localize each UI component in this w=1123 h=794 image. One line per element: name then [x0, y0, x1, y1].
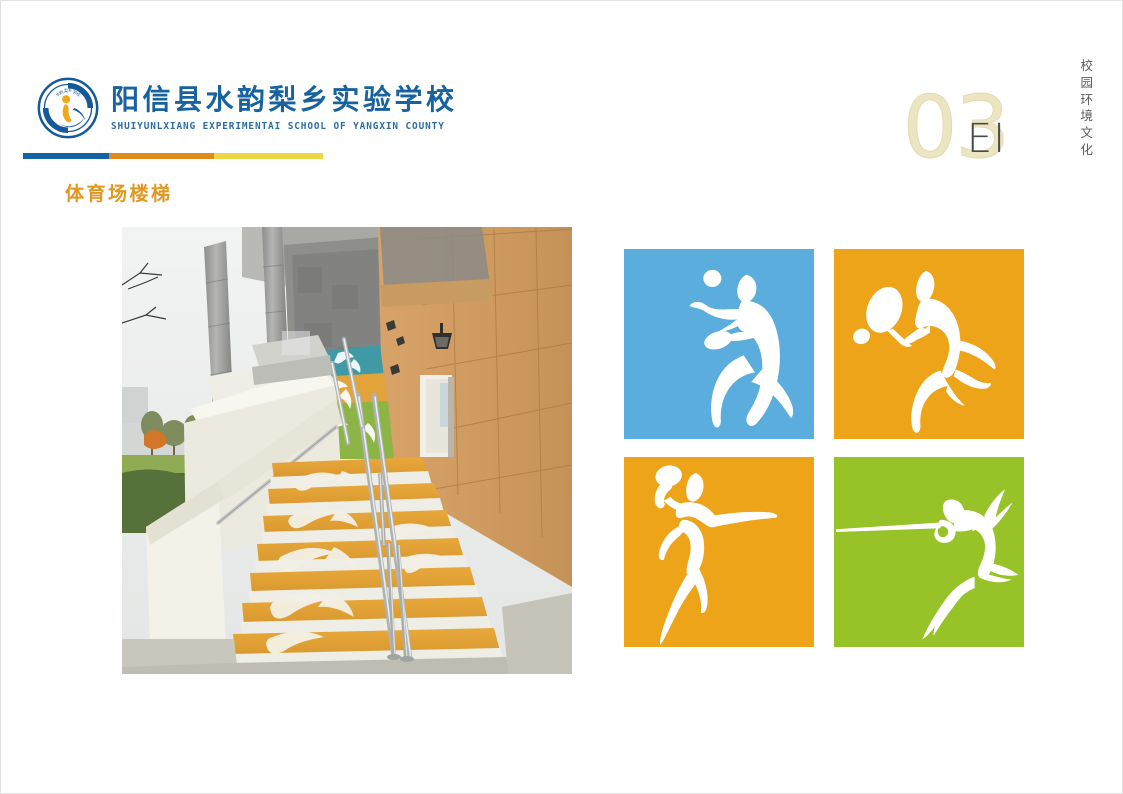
divider-bar-yellow	[214, 153, 323, 159]
stadium-staircase-photo	[122, 227, 572, 674]
school-logo-block: 水韵 梨乡 学校 阳信县水韵梨乡实验学校 SHUIYUNLXIANG EXPER…	[37, 77, 458, 139]
tile-background	[624, 457, 814, 647]
divider-bar-blue	[23, 153, 109, 159]
page-header: 水韵 梨乡 学校 阳信县水韵梨乡实验学校 SHUIYUNLXIANG EXPER…	[1, 1, 1122, 171]
divider-bar-orange	[109, 153, 214, 159]
school-name-cn: 阳信县水韵梨乡实验学校	[111, 83, 458, 116]
slide-page: 水韵 梨乡 学校 阳信县水韵梨乡实验学校 SHUIYUNLXIANG EXPER…	[0, 0, 1123, 794]
tile-tennis[interactable]	[834, 249, 1024, 439]
school-emblem-icon: 水韵 梨乡 学校	[37, 77, 99, 139]
section-label-block: 校园 环境文化	[1080, 58, 1094, 159]
sport-pictogram-grid	[624, 249, 1024, 647]
section-label-line2: 环境文化	[1080, 92, 1094, 160]
tile-handball[interactable]	[624, 457, 814, 647]
school-name-block: 阳信县水韵梨乡实验学校 SHUIYUNLXIANG EXPERIMENTAI S…	[111, 83, 458, 132]
tile-fencing[interactable]	[834, 457, 1024, 647]
svg-text:梨乡: 梨乡	[64, 87, 72, 93]
section-overlay-text: EI	[967, 119, 1006, 159]
school-name-en: SHUIYUNLXIANG EXPERIMENTAI SCHOOL OF YAN…	[111, 121, 458, 132]
tile-volleyball[interactable]	[624, 249, 814, 439]
section-label-line1: 校园	[1080, 58, 1094, 92]
page-title: 体育场楼梯	[65, 179, 173, 206]
